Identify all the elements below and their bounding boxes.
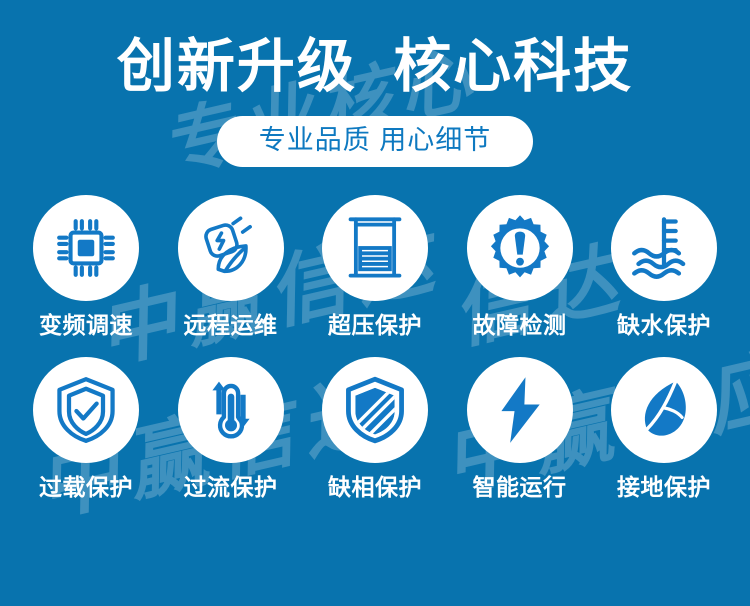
icon-circle bbox=[611, 357, 717, 463]
feature-label: 变频调速 bbox=[39, 314, 133, 337]
lightning-bolt-icon bbox=[489, 375, 551, 445]
shield-striped-icon bbox=[342, 376, 408, 444]
subtitle-badge: 专业品质 用心细节 bbox=[217, 116, 534, 167]
feature-item-chaoya-baohu[interactable]: 超压保护 bbox=[309, 195, 441, 337]
feature-label: 缺相保护 bbox=[328, 476, 422, 499]
icon-circle bbox=[611, 195, 717, 301]
feature-item-quexiang-baohu[interactable]: 缺相保护 bbox=[309, 357, 441, 499]
feature-item-guozai-baohu[interactable]: 过载保护 bbox=[20, 357, 152, 499]
feature-label: 接地保护 bbox=[617, 476, 711, 499]
plug-leaf-icon bbox=[197, 214, 265, 282]
thermometer-arrows-icon bbox=[199, 375, 263, 445]
subtitle-container: 专业品质 用心细节 bbox=[0, 116, 750, 167]
feature-row: 过载保护 过流保护 bbox=[20, 357, 730, 499]
feature-label: 智能运行 bbox=[473, 476, 567, 499]
feature-label: 缺水保护 bbox=[617, 314, 711, 337]
feature-item-guzhang-jiance[interactable]: 故障检测 bbox=[454, 195, 586, 337]
water-level-icon bbox=[629, 215, 699, 281]
icon-circle bbox=[178, 357, 284, 463]
gear-alert-icon bbox=[485, 213, 555, 283]
feature-item-guoliu-baohu[interactable]: 过流保护 bbox=[165, 357, 297, 499]
cpu-chip-icon bbox=[53, 215, 119, 281]
icon-circle bbox=[33, 357, 139, 463]
feature-label: 远程运维 bbox=[184, 314, 278, 337]
feature-label: 过载保护 bbox=[39, 476, 133, 499]
icon-circle bbox=[178, 195, 284, 301]
icon-circle bbox=[322, 357, 428, 463]
shield-check-icon bbox=[53, 376, 119, 444]
feature-grid: 变频调速 远程运维 bbox=[20, 167, 730, 499]
feature-label: 超压保护 bbox=[328, 314, 422, 337]
icon-circle bbox=[33, 195, 139, 301]
feature-item-zhineng-yunxing[interactable]: 智能运行 bbox=[454, 357, 586, 499]
icon-circle bbox=[322, 195, 428, 301]
feature-row: 变频调速 远程运维 bbox=[20, 195, 730, 337]
feature-item-queshui-baohu[interactable]: 缺水保护 bbox=[598, 195, 730, 337]
pressure-press-icon bbox=[344, 214, 406, 282]
feature-label: 过流保护 bbox=[184, 476, 278, 499]
page-title: 创新升级 核心科技 bbox=[0, 38, 750, 96]
poster-root: 专业核心 中赢信达 信达 中赢信达 中赢供应 创新升级 核心科技 专业品质 用心… bbox=[0, 0, 750, 606]
icon-circle bbox=[467, 357, 573, 463]
icon-circle bbox=[467, 195, 573, 301]
feature-item-yuancheng-yunwei[interactable]: 远程运维 bbox=[165, 195, 297, 337]
header: 创新升级 核心科技 专业品质 用心细节 bbox=[0, 0, 750, 167]
feature-item-bianpin-tiaosu[interactable]: 变频调速 bbox=[20, 195, 152, 337]
feature-item-jiedi-baohu[interactable]: 接地保护 bbox=[598, 357, 730, 499]
leaf-drop-icon bbox=[631, 376, 697, 444]
feature-label: 故障检测 bbox=[473, 314, 567, 337]
